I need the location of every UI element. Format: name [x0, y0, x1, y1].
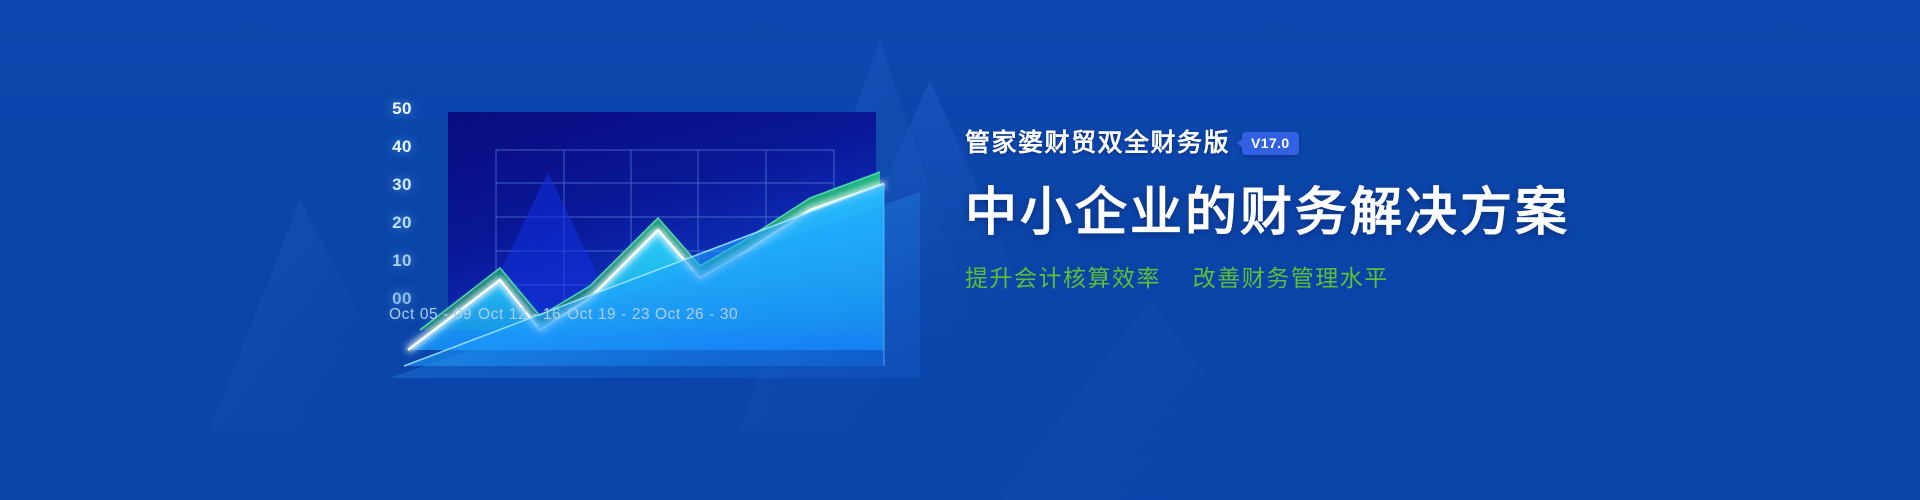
subheadline: 提升会计核算效率 改善财务管理水平 [965, 267, 1665, 290]
headline: 中小企业的财务解决方案 [965, 186, 1665, 241]
y-tick-label: 40 [392, 138, 412, 155]
banner-copy: 管家婆财贸双全财务版 V17.0 中小企业的财务解决方案 提升会计核算效率 改善… [965, 128, 1665, 358]
y-tick-label: 00 [392, 290, 412, 307]
analytics-chart: 50 40 30 20 10 00 Oct 05 - 09 Oct 12 - 1… [360, 80, 960, 420]
brand-row: 管家婆财贸双全财务版 V17.0 [965, 128, 1665, 158]
chart-svg [360, 80, 960, 420]
y-tick-label: 10 [392, 252, 412, 269]
product-name: 管家婆财贸双全财务版 [965, 131, 1230, 156]
chart-x-axis: Oct 05 - 09 Oct 12 - 16 Oct 19 - 23 Oct … [360, 306, 960, 332]
subheadline-part-1: 提升会计核算效率 [965, 265, 1161, 291]
x-tick-label: Oct 05 - 09 [389, 306, 472, 324]
version-badge: V17.0 [1242, 132, 1299, 155]
x-tick-label: Oct 12 - 16 [478, 306, 561, 324]
chart-y-axis: 50 40 30 20 10 00 [360, 80, 412, 340]
y-tick-label: 30 [392, 176, 412, 193]
subheadline-part-2: 改善财务管理水平 [1193, 265, 1389, 291]
promo-banner: 50 40 30 20 10 00 Oct 05 - 09 Oct 12 - 1… [0, 0, 1920, 500]
y-tick-label: 50 [392, 100, 412, 117]
x-tick-label: Oct 19 - 23 [567, 306, 650, 324]
x-tick-label: Oct 26 - 30 [655, 306, 738, 324]
y-tick-label: 20 [392, 214, 412, 231]
